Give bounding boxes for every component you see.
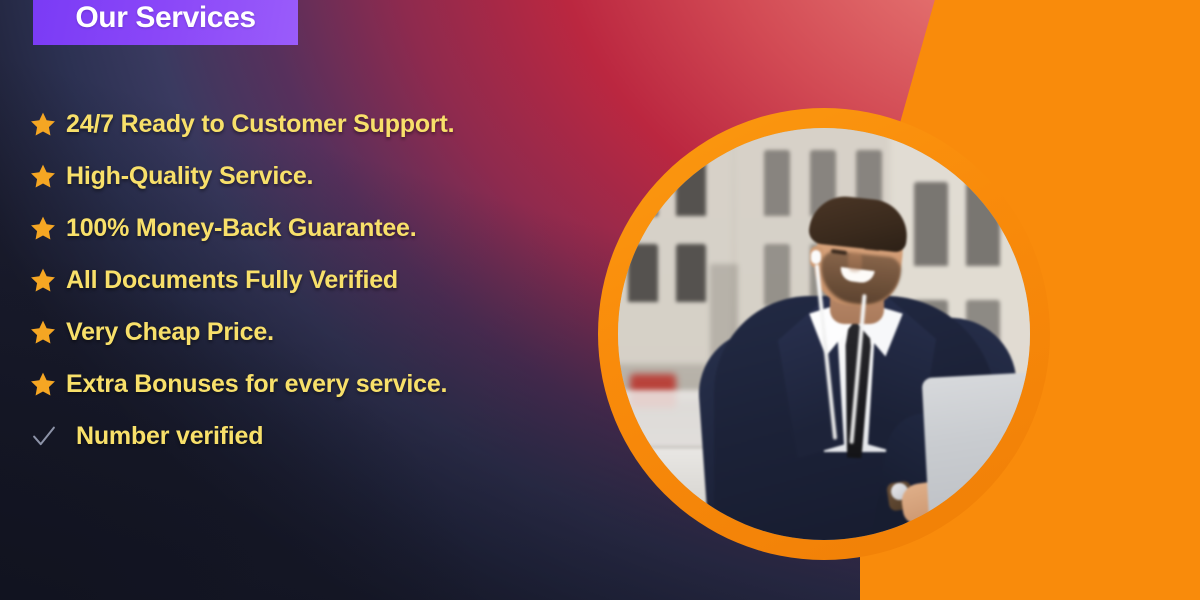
laptop bbox=[922, 366, 1030, 540]
badge-label: Our Services bbox=[75, 3, 255, 33]
list-item: 24/7 Ready to Customer Support. bbox=[24, 98, 624, 150]
list-item-label: 24/7 Ready to Customer Support. bbox=[66, 110, 454, 139]
list-item: All Documents Fully Verified bbox=[24, 254, 624, 306]
list-item-label: All Documents Fully Verified bbox=[66, 266, 398, 295]
list-item-label: Number verified bbox=[68, 422, 263, 451]
check-icon bbox=[24, 422, 68, 450]
star-icon bbox=[24, 266, 66, 295]
earphone-bud bbox=[811, 250, 821, 264]
hero-photo bbox=[618, 128, 1030, 540]
list-item-label: Extra Bonuses for every service. bbox=[66, 370, 447, 399]
list-item: Very Cheap Price. bbox=[24, 306, 624, 358]
star-icon bbox=[24, 110, 66, 139]
list-item: High-Quality Service. bbox=[24, 150, 624, 202]
list-item-label: 100% Money-Back Guarantee. bbox=[66, 214, 417, 243]
list-item: Extra Bonuses for every service. bbox=[24, 358, 624, 410]
person bbox=[706, 214, 1006, 540]
star-icon bbox=[24, 214, 66, 243]
services-list: 24/7 Ready to Customer Support. High-Qua… bbox=[24, 98, 624, 462]
list-item-label: High-Quality Service. bbox=[66, 162, 313, 191]
star-icon bbox=[24, 162, 66, 191]
list-item: Number verified bbox=[24, 410, 624, 462]
services-banner: Our Services 24/7 Ready to Customer Supp… bbox=[0, 0, 1200, 600]
list-item-label: Very Cheap Price. bbox=[66, 318, 274, 347]
our-services-badge: Our Services bbox=[33, 0, 298, 45]
star-icon bbox=[24, 318, 66, 347]
star-icon bbox=[24, 370, 66, 399]
list-item: 100% Money-Back Guarantee. bbox=[24, 202, 624, 254]
